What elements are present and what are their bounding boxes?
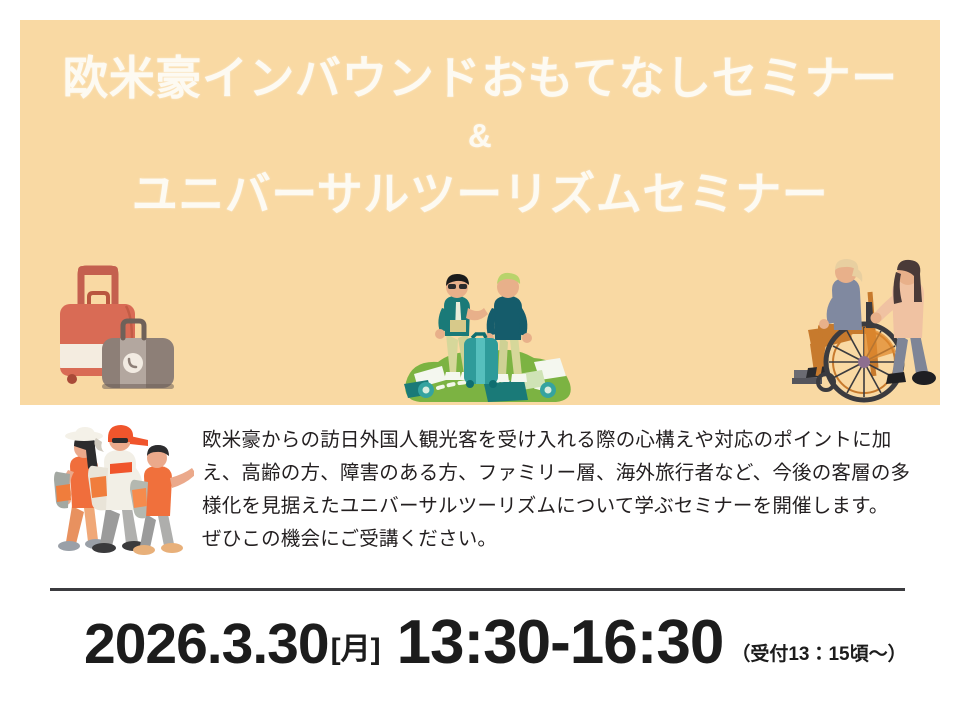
seminar-weekday: [月] <box>331 635 381 665</box>
seminar-title-line-1: 欧米豪インバウンドおもてなしセミナー <box>20 54 940 103</box>
description-text: 欧米豪からの訪日外国人観光客を受け入れる際の心構えや対応のポイントに加え、高齢の… <box>202 424 914 556</box>
hero-panel: 欧米豪インバウンドおもてなしセミナー & ユニバーサルツーリズムセミナー <box>20 20 940 405</box>
seminar-title-conjunction: & <box>20 119 940 154</box>
wheelchair-illustration <box>788 258 940 405</box>
luggage-illustration <box>48 258 198 405</box>
description-paragraph-1: 欧米豪からの訪日外国人観光客を受け入れる際の心構えや対応のポイントに加え、高齢の… <box>202 424 914 523</box>
description-paragraph-2: ぜひこの機会にご受講ください。 <box>202 523 914 556</box>
seminar-time: 13:30-16:30 <box>397 612 724 674</box>
seminar-date: 2026.3.30 <box>84 616 329 673</box>
description-band: 欧米豪からの訪日外国人観光客を受け入れる際の心構えや対応のポイントに加え、高齢の… <box>0 412 973 582</box>
seminar-title-line-2: ユニバーサルツーリズムセミナー <box>20 170 940 219</box>
horizontal-divider <box>50 588 905 591</box>
travelers-illustration <box>398 262 582 405</box>
reception-note: （受付13：15頃〜） <box>731 645 906 664</box>
seminar-title-block: 欧米豪インバウンドおもてなしセミナー & ユニバーサルツーリズムセミナー <box>20 54 940 218</box>
schedule-row: 2026.3.30 [月] 13:30-16:30 （受付13：15頃〜） <box>0 612 973 704</box>
family-backpackers-illustration <box>44 420 194 568</box>
